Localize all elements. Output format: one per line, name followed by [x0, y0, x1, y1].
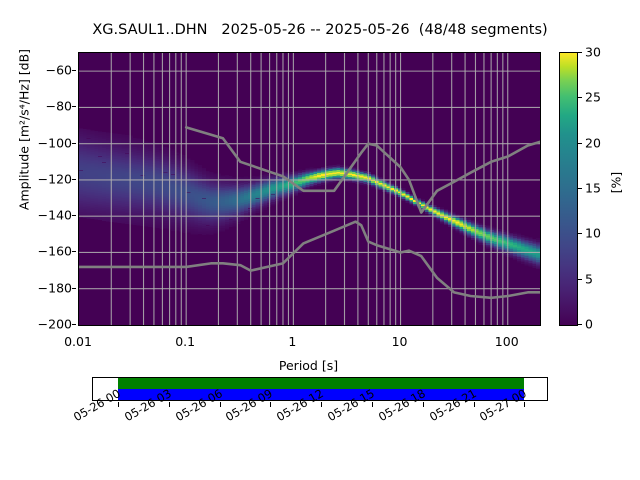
- y-axis-ticks: −60−80−100−120−140−160−180−200: [0, 52, 72, 324]
- timeline-tick-mark: [423, 402, 424, 407]
- y-tick-mark: [72, 251, 76, 252]
- colorbar-label: [%]: [609, 163, 624, 203]
- y-tick-label: −140: [2, 208, 72, 223]
- colorbar-tick-mark: [578, 279, 582, 280]
- colorbar-tick-label: 20: [585, 135, 601, 150]
- colorbar-tick-label: 10: [585, 226, 601, 241]
- y-tick-mark: [72, 324, 76, 325]
- colorbar-tick-mark: [578, 143, 582, 144]
- x-tick-label: 0.1: [175, 334, 195, 349]
- y-tick-label: −60: [2, 63, 72, 78]
- y-tick-mark: [72, 179, 76, 180]
- y-tick-mark: [72, 215, 76, 216]
- colorbar-tick-mark: [578, 324, 582, 325]
- timeline-tick-mark: [524, 402, 525, 407]
- timeline-tick-mark: [169, 402, 170, 407]
- y-tick-mark: [72, 143, 76, 144]
- y-tick-label: −180: [2, 280, 72, 295]
- timeline-tick-mark: [372, 402, 373, 407]
- x-tick-label: 1: [288, 334, 296, 349]
- ppsd-canvas: [79, 53, 540, 325]
- y-tick-label: −200: [2, 317, 72, 332]
- colorbar-tick-mark: [578, 97, 582, 98]
- colorbar-tick-label: 15: [585, 181, 601, 196]
- y-tick-label: −80: [2, 99, 72, 114]
- x-tick-label: 10: [392, 334, 408, 349]
- x-tick-label: 0.01: [64, 334, 92, 349]
- y-tick-mark: [72, 70, 76, 71]
- ppsd-figure: XG.SAUL1..DHN 2025-05-26 -- 2025-05-26 (…: [0, 0, 640, 480]
- plot-title: XG.SAUL1..DHN 2025-05-26 -- 2025-05-26 (…: [0, 22, 640, 38]
- colorbar-tick-mark: [578, 233, 582, 234]
- ppsd-plot-svg: [79, 53, 540, 325]
- x-axis-label: Period [s]: [78, 358, 539, 373]
- y-tick-mark: [72, 288, 76, 289]
- y-tick-label: −120: [2, 171, 72, 186]
- timeline-tick-mark: [321, 402, 322, 407]
- colorbar-tick-label: 25: [585, 90, 601, 105]
- x-tick-label: 100: [495, 334, 519, 349]
- y-tick-mark: [72, 106, 76, 107]
- timeline-tick-mark: [270, 402, 271, 407]
- colorbar-tick-mark: [578, 188, 582, 189]
- colorbar: [559, 52, 578, 326]
- colorbar-tick-mark: [578, 52, 582, 53]
- colorbar-tick-label: 30: [585, 45, 601, 60]
- colorbar-tick-label: 0: [585, 317, 593, 332]
- y-tick-label: −100: [2, 135, 72, 150]
- x-axis-ticks: 0.010.1110100: [78, 326, 539, 350]
- timeline-tick-mark: [118, 402, 119, 407]
- ppsd-plot-area[interactable]: [78, 52, 541, 326]
- data-coverage-green: [118, 378, 524, 389]
- y-tick-label: −160: [2, 244, 72, 259]
- colorbar-tick-label: 5: [585, 271, 593, 286]
- timeline-tick-mark: [474, 402, 475, 407]
- timeline-tick-mark: [220, 402, 221, 407]
